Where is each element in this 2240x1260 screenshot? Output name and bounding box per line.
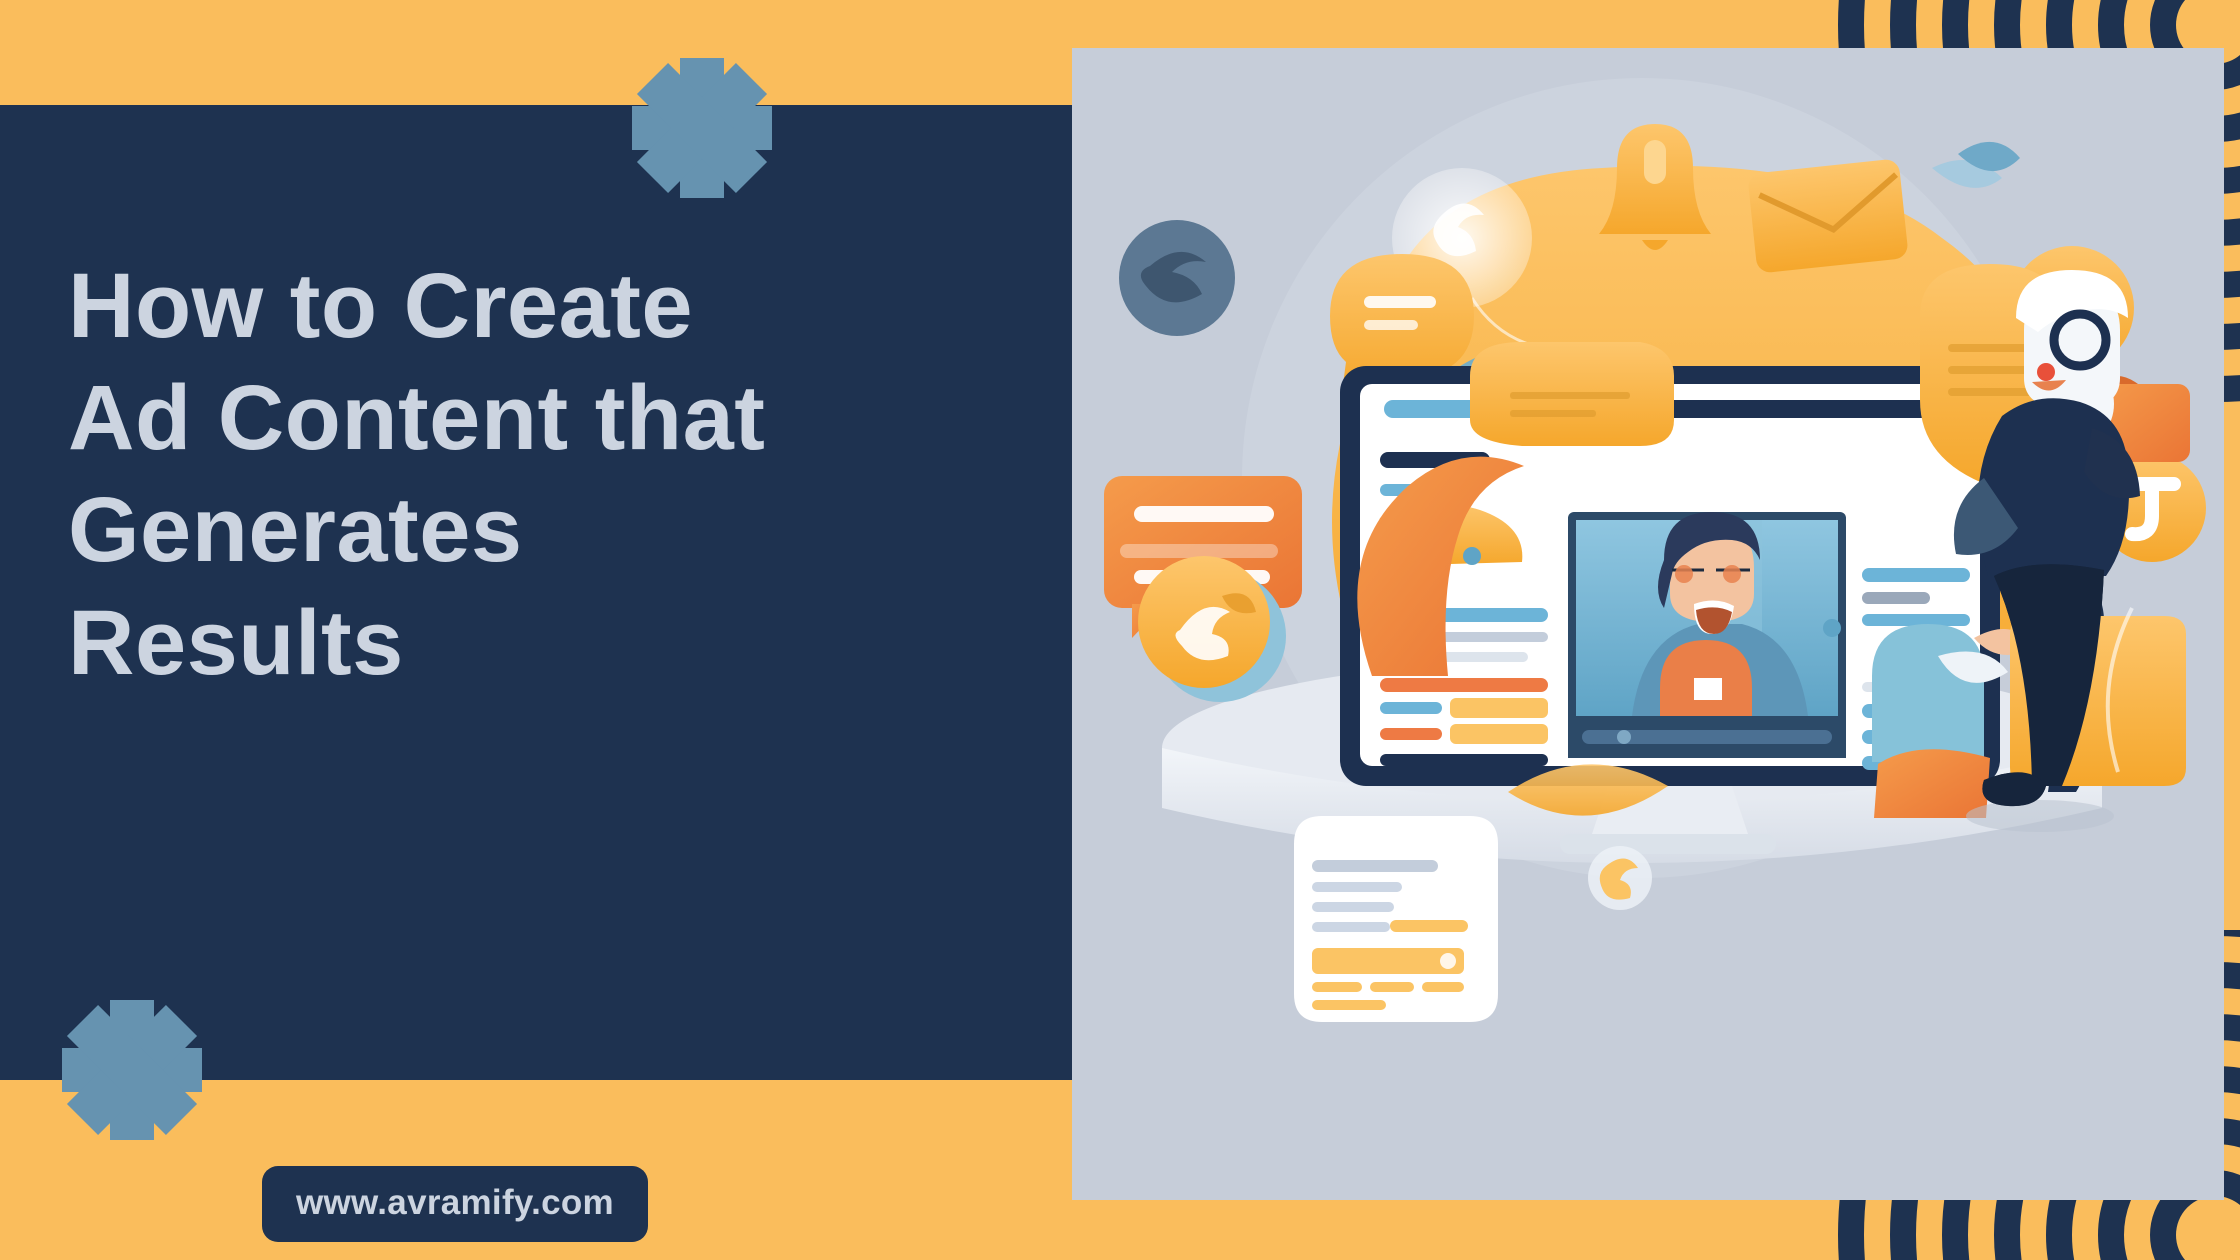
page-title: How to Create Ad Content that Generates … <box>68 250 1048 699</box>
website-url-badge[interactable]: www.avramify.com <box>262 1166 648 1242</box>
video-play-icon <box>1568 512 1846 758</box>
coin-icon <box>1588 846 1652 910</box>
envelope-icon <box>1747 158 1909 273</box>
coin-icon <box>1119 220 1235 336</box>
chat-bubble-icon <box>1470 342 1674 446</box>
document-icon <box>1294 816 1498 1022</box>
hero-illustration <box>1072 48 2224 1200</box>
